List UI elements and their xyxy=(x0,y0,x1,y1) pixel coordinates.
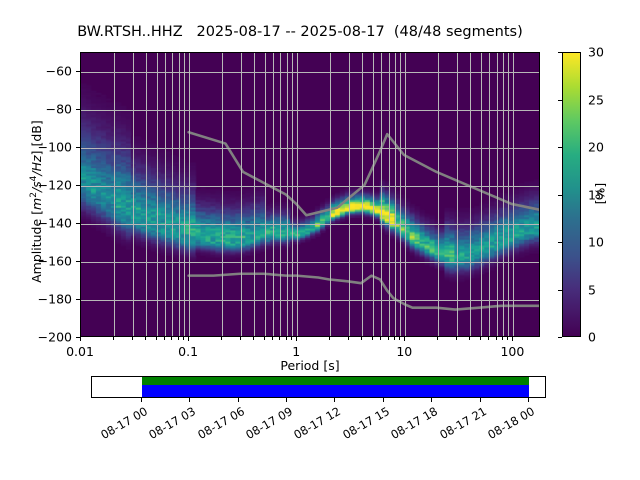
coverage-tick-label: 08-17 00 xyxy=(93,404,150,445)
coverage-tick-label: 08-17 03 xyxy=(141,404,198,445)
gridline-vertical xyxy=(114,53,115,336)
coverage-tick xyxy=(528,398,529,402)
y-tick xyxy=(76,109,80,110)
colorbar-tick xyxy=(558,242,562,243)
y-tick xyxy=(76,223,80,224)
gridline-vertical xyxy=(481,53,482,336)
gridline-horizontal xyxy=(81,110,539,111)
coverage-tick xyxy=(141,398,142,402)
gridline-vertical xyxy=(503,53,504,336)
gridline-vertical xyxy=(381,53,382,336)
gridline-vertical xyxy=(330,53,331,336)
x-tick xyxy=(469,337,470,340)
x-tick xyxy=(437,337,438,340)
colorbar-tick xyxy=(558,290,562,291)
coverage-tick xyxy=(286,398,287,402)
gridline-vertical xyxy=(405,53,406,336)
x-tick xyxy=(171,337,172,340)
gridline-vertical xyxy=(146,53,147,336)
page-title: BW.RTSH..HHZ 2025-08-17 -- 2025-08-17 (4… xyxy=(0,24,600,40)
x-tick xyxy=(132,337,133,340)
x-tick xyxy=(291,337,292,340)
x-tick xyxy=(279,337,280,340)
x-tick xyxy=(80,337,81,341)
x-tick xyxy=(488,337,489,340)
x-tick-label: 1 xyxy=(292,344,300,359)
coverage-tick xyxy=(383,398,384,402)
x-tick xyxy=(512,337,513,341)
colorbar-tick-label: 5 xyxy=(588,282,596,297)
gridline-vertical xyxy=(297,53,298,336)
x-tick xyxy=(394,337,395,340)
colorbar-tick-label: 10 xyxy=(588,235,604,250)
gridline-vertical xyxy=(241,53,242,336)
gridline-horizontal xyxy=(81,300,539,301)
y-tick xyxy=(76,71,80,72)
gridline-vertical xyxy=(438,53,439,336)
gridline-vertical xyxy=(508,53,509,336)
gridline-vertical xyxy=(497,53,498,336)
x-tick xyxy=(286,337,287,340)
colorbar-tick xyxy=(558,195,562,196)
gridline-horizontal xyxy=(81,72,539,73)
x-tick xyxy=(264,337,265,340)
y-tick xyxy=(76,299,80,300)
gridline-vertical xyxy=(349,53,350,336)
colorbar-tick xyxy=(558,147,562,148)
colorbar-tick-label: 30 xyxy=(588,45,604,60)
y-tick xyxy=(76,185,80,186)
gridline-vertical xyxy=(273,53,274,336)
x-axis-label: Period [s] xyxy=(80,358,540,373)
x-tick xyxy=(380,337,381,340)
coverage-tick xyxy=(238,398,239,402)
x-tick xyxy=(502,337,503,340)
x-tick-label: 0.1 xyxy=(178,344,198,359)
x-tick xyxy=(388,337,389,340)
gridline-vertical xyxy=(172,53,173,336)
x-tick xyxy=(296,337,297,341)
x-tick xyxy=(372,337,373,340)
x-tick xyxy=(145,337,146,340)
x-tick xyxy=(496,337,497,340)
gridline-vertical xyxy=(400,53,401,336)
y-tick xyxy=(76,261,80,262)
coverage-tick xyxy=(480,398,481,402)
gridline-horizontal xyxy=(81,262,539,263)
gridline-vertical xyxy=(373,53,374,336)
x-tick xyxy=(507,337,508,340)
x-tick xyxy=(240,337,241,340)
gridline-vertical xyxy=(133,53,134,336)
gridline-vertical xyxy=(184,53,185,336)
gridline-vertical xyxy=(292,53,293,336)
coverage-tick-label: 08-17 06 xyxy=(189,404,246,445)
coverage-tick-label: 08-17 18 xyxy=(383,404,440,445)
coverage-tick-label: 08-17 21 xyxy=(431,404,488,445)
ppsd-grid-and-data xyxy=(81,53,539,336)
coverage-tick xyxy=(189,398,190,402)
gridline-vertical xyxy=(189,53,190,336)
colorbar xyxy=(562,52,581,337)
gridline-vertical xyxy=(513,53,514,336)
gridline-vertical xyxy=(280,53,281,336)
gridline-vertical xyxy=(222,53,223,336)
x-tick-label: 100 xyxy=(500,344,524,359)
x-tick xyxy=(183,337,184,340)
x-tick xyxy=(361,337,362,340)
coverage-segment-green xyxy=(142,377,529,385)
coverage-tick xyxy=(431,398,432,402)
x-tick-label: 0.01 xyxy=(66,344,94,359)
colorbar-label: [%] xyxy=(593,154,608,234)
coverage-tick-label: 08-17 15 xyxy=(335,404,392,445)
gridline-vertical xyxy=(287,53,288,336)
x-tick xyxy=(480,337,481,340)
ppsd-figure: BW.RTSH..HHZ 2025-08-17 -- 2025-08-17 (4… xyxy=(0,0,640,480)
coverage-tick-label: 08-17 09 xyxy=(238,404,295,445)
x-tick xyxy=(156,337,157,340)
y-tick xyxy=(76,337,80,338)
x-tick xyxy=(404,337,405,341)
colorbar-tick xyxy=(558,100,562,101)
x-tick xyxy=(399,337,400,340)
gridline-vertical xyxy=(254,53,255,336)
x-tick xyxy=(188,337,189,341)
x-tick xyxy=(272,337,273,340)
gridline-horizontal xyxy=(81,186,539,187)
gridline-vertical xyxy=(265,53,266,336)
gridline-vertical xyxy=(362,53,363,336)
x-tick xyxy=(178,337,179,340)
coverage-tick xyxy=(334,398,335,402)
x-tick xyxy=(221,337,222,340)
x-tick xyxy=(253,337,254,340)
coverage-tick-label: 08-17 12 xyxy=(286,404,343,445)
ppsd-plot-area xyxy=(80,52,540,337)
gridline-vertical xyxy=(179,53,180,336)
x-tick xyxy=(164,337,165,340)
colorbar-tick-label: 25 xyxy=(588,92,604,107)
y-axis-label: Amplitude [m2/s4/Hz] [dB] xyxy=(29,59,44,344)
y-tick xyxy=(76,147,80,148)
x-tick xyxy=(329,337,330,340)
colorbar-tick-label: 0 xyxy=(588,330,596,345)
coverage-segment-blue xyxy=(142,385,529,397)
colorbar-tick xyxy=(558,337,562,338)
gridline-vertical xyxy=(457,53,458,336)
coverage-tick-label: 08-18 00 xyxy=(480,404,537,445)
gridline-vertical xyxy=(395,53,396,336)
data-coverage-bar xyxy=(91,376,546,398)
x-tick xyxy=(348,337,349,340)
colorbar-tick xyxy=(558,52,562,53)
gridline-horizontal xyxy=(81,224,539,225)
colorbar-tick-label: 20 xyxy=(588,140,604,155)
gridline-vertical xyxy=(389,53,390,336)
gridline-vertical xyxy=(165,53,166,336)
gridline-vertical xyxy=(470,53,471,336)
x-tick xyxy=(113,337,114,340)
gridline-vertical xyxy=(489,53,490,336)
x-tick-label: 10 xyxy=(396,344,412,359)
gridline-vertical xyxy=(157,53,158,336)
gridline-horizontal xyxy=(81,148,539,149)
x-tick xyxy=(456,337,457,340)
